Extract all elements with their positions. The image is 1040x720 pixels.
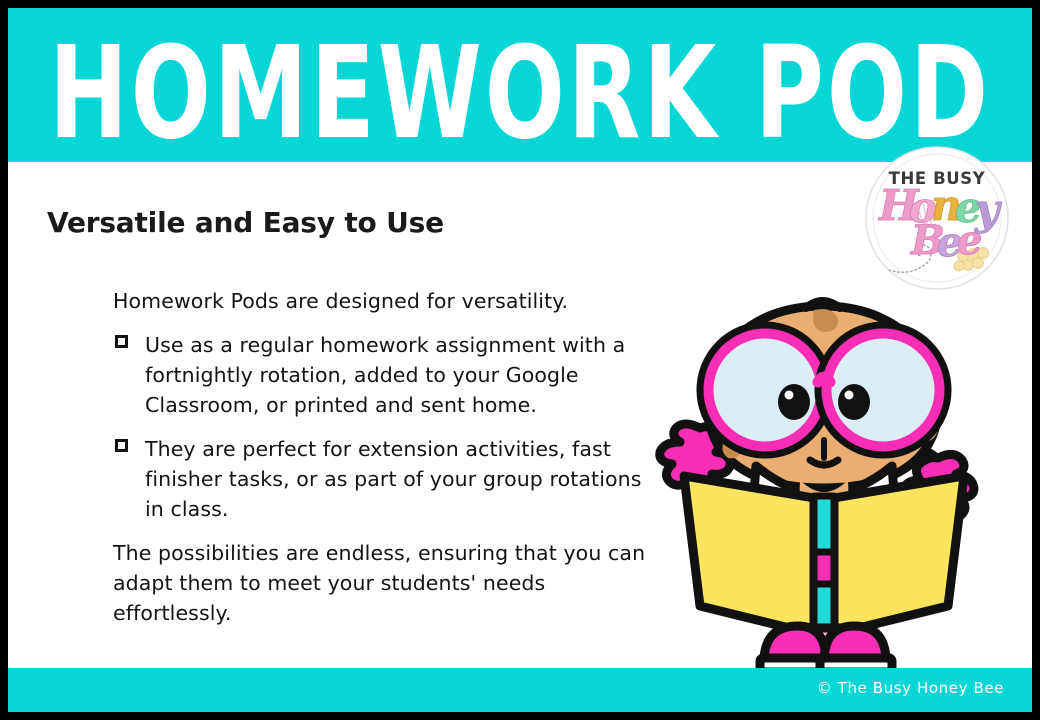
list-item-text: Use as a regular homework assignment wit… (145, 333, 625, 417)
list-item-text: They are perfect for extension activitie… (145, 437, 642, 521)
copyright-credit: © The Busy Honey Bee (817, 679, 1004, 697)
checkbox-square-icon (115, 335, 128, 348)
closing-paragraph: The possibilities are endless, ensuring … (113, 538, 653, 628)
title-banner: HOMEWORK POD (8, 8, 1032, 162)
reading-character-illustration (638, 290, 1008, 676)
body-copy: Homework Pods are designed for versatili… (113, 286, 653, 628)
section-heading: Versatile and Easy to Use (47, 206, 444, 239)
slide-canvas: HOMEWORK POD (8, 8, 1032, 712)
honey-bee-logo-icon: THE BUSY H o n e y B e e (863, 144, 1011, 292)
footer-bar: © The Busy Honey Bee (8, 668, 1032, 712)
logo-badge: THE BUSY H o n e y B e e (863, 144, 1011, 292)
list-item: Use as a regular homework assignment wit… (113, 330, 653, 420)
list-item: They are perfect for extension activitie… (113, 434, 653, 524)
svg-text:e: e (957, 217, 982, 264)
child-reading-book-character (638, 290, 1008, 676)
logo-line3: B e e (910, 217, 982, 266)
intro-paragraph: Homework Pods are designed for versatili… (113, 286, 653, 316)
checkbox-square-icon (115, 439, 128, 452)
